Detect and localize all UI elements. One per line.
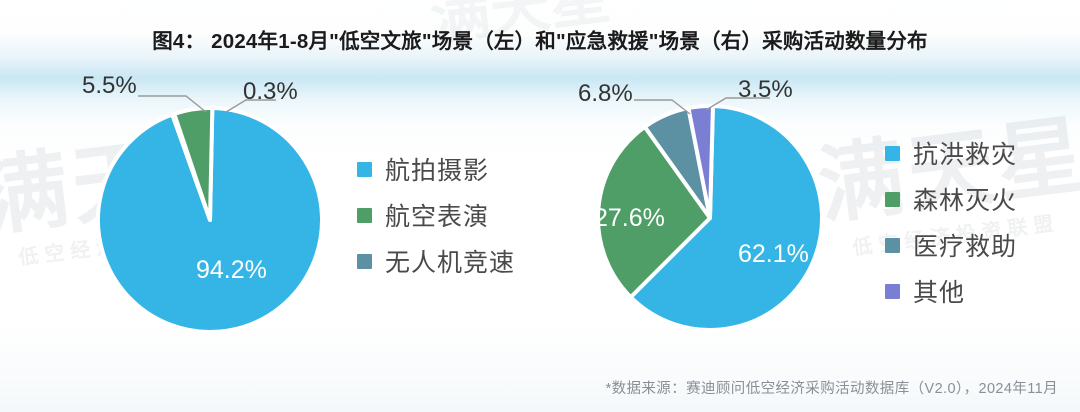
legend-item-航空表演[interactable]: 航空表演 xyxy=(357,192,515,238)
legend-label: 航拍摄影 xyxy=(385,151,489,187)
legend-swatch-icon xyxy=(357,162,372,177)
legend-swatch-icon xyxy=(885,146,900,161)
left-pie-label-无人机竞速: 0.3% xyxy=(243,78,298,106)
right-pie-label-其他: 3.5% xyxy=(738,76,793,104)
legend-label: 无人机竞速 xyxy=(385,243,515,279)
legend-label: 医疗救助 xyxy=(913,227,1017,263)
right-pie-label-森林灭火: 27.6% xyxy=(594,204,665,233)
legend-swatch-icon xyxy=(885,192,900,207)
left-pie-legend: 航拍摄影 航空表演 无人机竞速 xyxy=(357,146,515,284)
legend-swatch-icon xyxy=(357,254,372,269)
left-pie-label-航拍摄影: 94.2% xyxy=(196,256,267,285)
legend-swatch-icon xyxy=(357,208,372,223)
legend-label: 抗洪救灾 xyxy=(913,135,1017,171)
legend-swatch-icon xyxy=(885,284,900,299)
legend-item-无人机竞速[interactable]: 无人机竞速 xyxy=(357,238,515,284)
right-pie-label-抗洪救灾: 62.1% xyxy=(738,240,809,269)
legend-item-森林灭火[interactable]: 森林灭火 xyxy=(885,176,1017,222)
legend-item-其他[interactable]: 其他 xyxy=(885,268,1017,314)
legend-label: 其他 xyxy=(913,273,965,309)
chart-figure: 满天星 满天星 低空经济投资联盟 满天星 低空经济投资联盟 图4： 2024年1… xyxy=(0,0,1080,412)
left-pie-label-航空表演: 5.5% xyxy=(82,72,137,100)
legend-item-航拍摄影[interactable]: 航拍摄影 xyxy=(357,146,515,192)
right-pie-legend: 抗洪救灾 森林灭火 医疗救助 其他 xyxy=(885,130,1017,314)
legend-item-医疗救助[interactable]: 医疗救助 xyxy=(885,222,1017,268)
data-source-footnote: *数据来源：赛迪顾问低空经济采购活动数据库（V2.0），2024年11月 xyxy=(606,377,1058,398)
legend-label: 森林灭火 xyxy=(913,181,1017,217)
legend-item-抗洪救灾[interactable]: 抗洪救灾 xyxy=(885,130,1017,176)
legend-swatch-icon xyxy=(885,238,900,253)
right-pie-label-医疗救助: 6.8% xyxy=(578,80,633,108)
legend-label: 航空表演 xyxy=(385,197,489,233)
